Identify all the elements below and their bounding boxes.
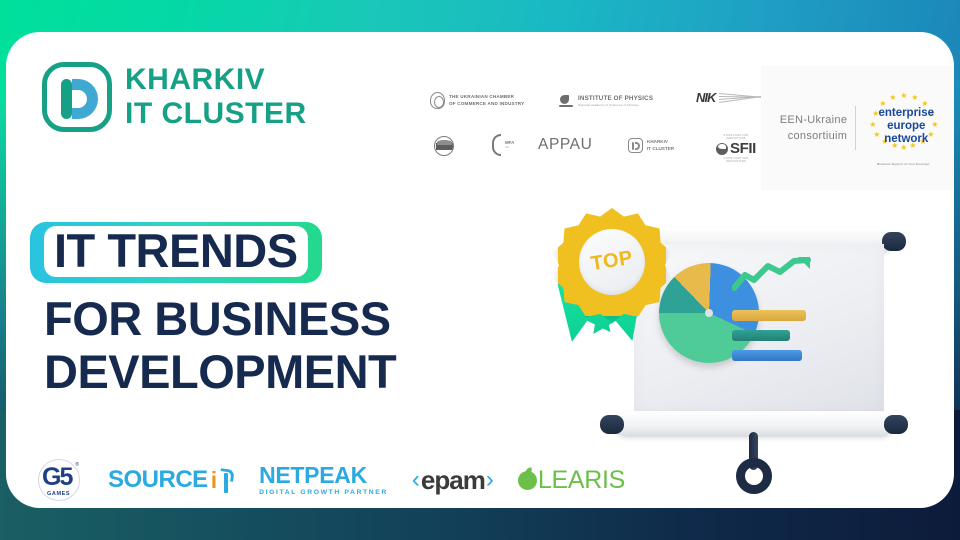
g5-sub: GAMES [47, 491, 70, 497]
institute-sub: National academy of Sciences of Ukraine [578, 103, 653, 107]
source-one-icon [220, 467, 235, 493]
headline-line2: FOR BUSINESS [44, 293, 396, 346]
institute-name: INSTITUTE OF PHYSICS [578, 95, 653, 104]
sponsor-logo-epam: ‹ epam › [412, 465, 494, 496]
epam-word: epam [421, 465, 485, 496]
content-card: KHARKIV IT CLUSTER THE UKRAINIAN CHAMBER… [6, 32, 954, 508]
een-divider [855, 106, 856, 150]
headline-line1: IT TRENDS [54, 227, 298, 274]
partner-logo-chamber: THE UKRAINIAN CHAMBER OF COMMERCE AND IN… [430, 92, 524, 109]
top-award-badge: TOP [550, 206, 672, 346]
source-accent-i: i [211, 467, 217, 494]
brand-name-line1: KHARKIV [125, 65, 307, 95]
line-chart-trend-icon [732, 256, 812, 292]
bar-chart-bar-1 [732, 310, 806, 321]
page-title: IT TRENDS FOR BUSINESS DEVELOPMENT [30, 222, 396, 398]
sponsor-logo-row: G5 ® GAMES SOURCE i NETPEAK DIGITAL GROW… [34, 456, 625, 504]
chamber-line2: OF COMMERCE AND INDUSTRY [449, 101, 524, 108]
sponsor-logo-netpeak: NETPEAK DIGITAL GROWTH PARTNER [259, 464, 388, 497]
appau-wordmark: APPAU [538, 136, 592, 154]
sfii-wordmark: SFII [730, 140, 756, 157]
institute-of-physics-icon [558, 94, 574, 108]
bar-chart-bar-3 [732, 350, 802, 361]
kic-small-line2: IT CLUSTER [647, 146, 674, 153]
een-network-line2: europe [875, 120, 937, 133]
bar-chart-bar-2 [732, 330, 790, 341]
een-network-line1: enterprise [875, 107, 937, 120]
sfii-swirl-icon [716, 143, 728, 155]
chamber-seal-icon [430, 92, 445, 109]
g5-registered-mark: ® [75, 462, 79, 468]
headline-highlight-box: IT TRENDS [30, 222, 322, 283]
nik-wordmark-icon: NIK [696, 90, 715, 105]
epam-left-bracket-icon: ‹ [412, 466, 420, 494]
board-stand-ring [736, 458, 772, 494]
kic-small-line1: KHARKIV [647, 139, 674, 146]
partner-logo-circle-emblem [434, 136, 454, 156]
g5-word: G5 [42, 463, 71, 492]
sfii-caption-bottom: STATE FUND FOR INNOVATIONS [716, 157, 756, 163]
circle-emblem-icon [434, 136, 454, 156]
partner-logo-strip: THE UKRAINIAN CHAMBER OF COMMERCE AND IN… [426, 88, 756, 178]
partner-logo-kharkiv-it-cluster: KHARKIV IT CLUSTER [628, 138, 674, 153]
sponsor-logo-g5-games: G5 ® GAMES [34, 457, 84, 503]
olearis-apple-icon [518, 471, 537, 490]
board-top-roller-cap-right [882, 232, 906, 251]
een-network-line3: network [875, 133, 937, 146]
partner-logo-institute-of-physics: INSTITUTE OF PHYSICS National academy of… [558, 94, 653, 108]
een-label-line1: EEN-Ukraine [780, 112, 848, 129]
een-ukraine-block: EEN-Ukraine consortiuim ★ ★ ★ ★ ★ ★ ★ ★ … [761, 66, 954, 190]
slide-canvas: KHARKIV IT CLUSTER THE UKRAINIAN CHAMBER… [0, 0, 960, 540]
partner-logo-appau: APPAU [538, 136, 592, 154]
mfa-sub: UA [505, 146, 514, 150]
kharkiv-it-cluster-wordmark: KHARKIV IT CLUSTER [125, 65, 307, 129]
chamber-line1: THE UKRAINIAN CHAMBER [449, 94, 524, 101]
een-label-line2: consortiuim [780, 128, 848, 145]
mfa-arc-icon [492, 134, 501, 156]
partner-logo-mfa: MFA UA [492, 134, 514, 156]
kharkiv-it-cluster-logomark-icon [42, 62, 112, 132]
netpeak-sub: DIGITAL GROWTH PARTNER [259, 490, 388, 497]
partner-logo-sfii: STATE FUND FOR INNOVATIONS SFII STATE FU… [716, 134, 756, 163]
epam-right-bracket-icon: › [486, 466, 494, 494]
source-word: SOURCE [108, 466, 208, 494]
headline-line3: DEVELOPMENT [44, 346, 396, 399]
enterprise-europe-network-logo: ★ ★ ★ ★ ★ ★ ★ ★ ★ ★ ★ ★ ★ ★ ★ ★ [864, 91, 942, 165]
board-bottom-roller-cap-left [600, 415, 624, 434]
board-bottom-roller-cap-right [884, 415, 908, 434]
sponsor-logo-source-i1: SOURCE i [108, 466, 235, 494]
een-ukraine-label: EEN-Ukraine consortiuim [780, 112, 848, 145]
pie-chart-center [705, 309, 713, 317]
een-network-words: enterprise europe network [875, 107, 937, 146]
een-tagline: Business Support on Your Doorstep [864, 162, 942, 166]
presentation-board-illustration: TOP [546, 200, 946, 508]
brand-name-line2: IT CLUSTER [125, 99, 307, 129]
kharkiv-it-cluster-small-icon [628, 138, 643, 153]
kharkiv-it-cluster-logo: KHARKIV IT CLUSTER [42, 62, 307, 132]
netpeak-word: NETPEAK [259, 464, 388, 487]
